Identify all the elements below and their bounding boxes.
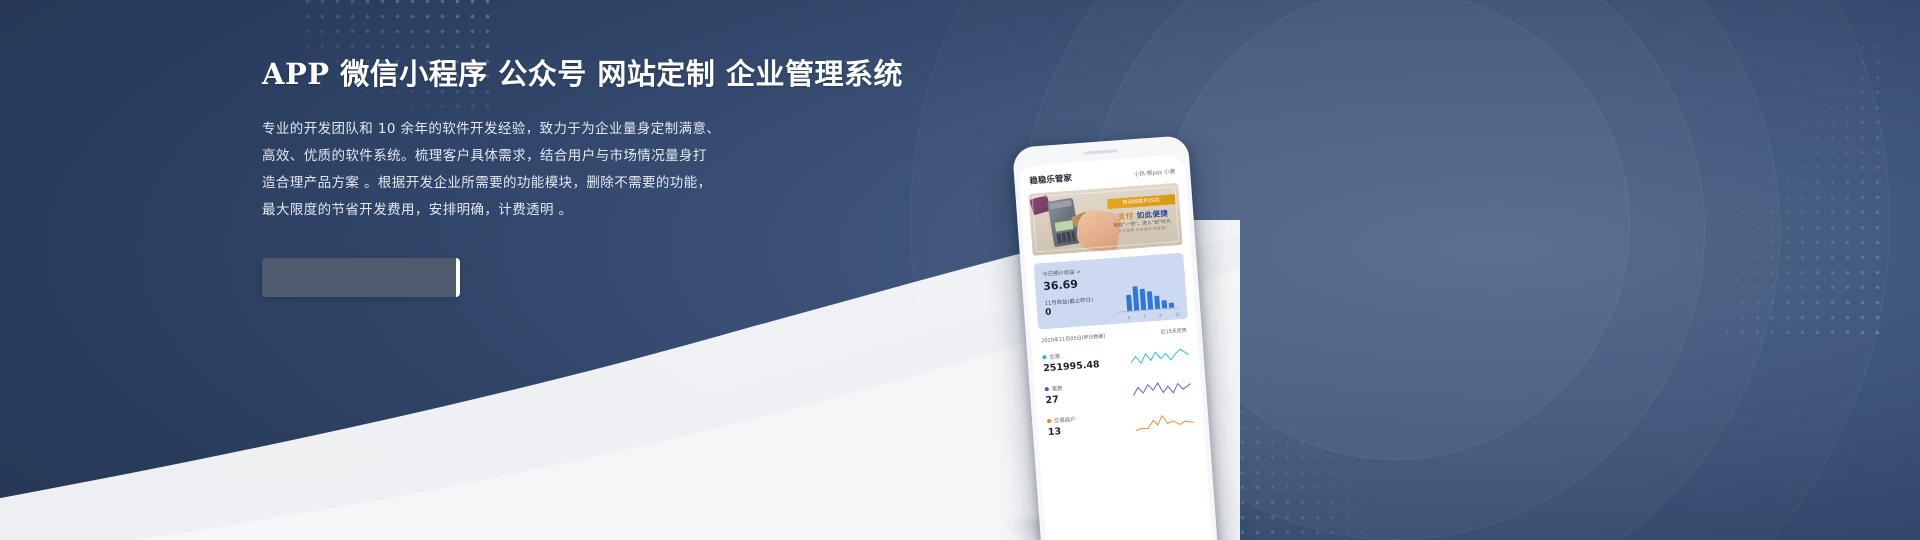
stat-value: 13 [1048,425,1077,438]
bar [1132,286,1139,310]
app-title: 稳稳乐管家 [1029,172,1072,187]
hero-banner: APP 微信小程序 公众号 网站定制 企业管理系统 专业的开发团队和 10 余年… [0,0,1920,540]
bar-chart-ticks: 5 7 9 11 [1128,312,1180,320]
promo-banner[interactable]: 移动收款POS机 支付 如此便捷 轻松"一划"，进入"划"时代 安全保障 资金速… [1028,183,1182,256]
phone-mockup: 稳稳乐管家 小热·帮pos 小黄 移动收款POS机 支付 [1012,135,1218,540]
phone-body: 稳稳乐管家 小热·帮pos 小黄 移动收款POS机 支付 [1012,135,1218,540]
stat-name: 交易商户 [1047,415,1076,425]
hero-paragraph-line: 造合理产品方案 。根据开发企业所需要的功能模块，删除不需要的功能， [262,170,882,197]
stat-name: 笔数 [1044,384,1062,393]
stat-value: 27 [1045,394,1064,406]
stats-list: 交易251995.48笔数27交易商户13 [1040,339,1197,446]
page-title: APP 微信小程序 公众号 网站定制 企业管理系统 [262,56,882,94]
phone-speaker [1083,149,1117,154]
app-account-label: 小热·帮pos 小黄 [1134,167,1176,178]
hero-paragraph: 专业的开发团队和 10 余年的软件开发经验，致力于为企业量身定制满意、 高效、优… [262,116,882,224]
sparkline-chart [1132,378,1191,402]
phone-screen: 稳稳乐管家 小热·帮pos 小黄 移动收款POS机 支付 [1018,154,1213,540]
hero-paragraph-line: 最大限度的节省开发费用，安排明确，计费透明 。 [262,197,882,224]
bar [1126,295,1132,311]
bar [1140,289,1147,310]
stats-trend-label: 近15天走势 [1160,327,1187,336]
hero-paragraph-line: 专业的开发团队和 10 余年的软件开发经验，致力于为企业量身定制满意、 [262,116,882,143]
stat-value: 251995.48 [1043,359,1100,374]
sparkline-chart [1135,409,1194,433]
bar [1147,291,1153,309]
banner-inner-frame [1032,186,1180,252]
cta-input[interactable] [262,258,456,297]
status-dot-icon [1042,355,1046,359]
status-dot-icon [1047,419,1051,423]
bar [1162,300,1168,308]
earnings-card[interactable]: 今日预计收益 > 36.69 11月收益(截止昨日) 0 5 7 9 11 [1034,253,1188,330]
hero-paragraph-line: 高效、优质的软件系统。梳理客户具体需求，结合用户与市场情况量身打 [262,143,882,170]
bar-tick: 11 [1175,312,1180,316]
bar-tick: 5 [1128,316,1131,320]
dot-pattern-far-right [1720,40,1880,340]
bar-tick: 9 [1159,314,1162,318]
bar-tick: 7 [1143,315,1146,319]
click-button[interactable]: click [456,258,460,297]
bar-chart [1125,281,1179,311]
stats-date-label: 2020年11月05日(昨日数据) [1041,333,1106,345]
bar [1154,296,1160,309]
status-dot-icon [1045,387,1049,391]
cta-group[interactable]: click [262,258,460,297]
bar [1169,303,1174,308]
hero-copy: APP 微信小程序 公众号 网站定制 企业管理系统 专业的开发团队和 10 余年… [262,56,882,224]
sparkline-chart [1130,346,1189,370]
